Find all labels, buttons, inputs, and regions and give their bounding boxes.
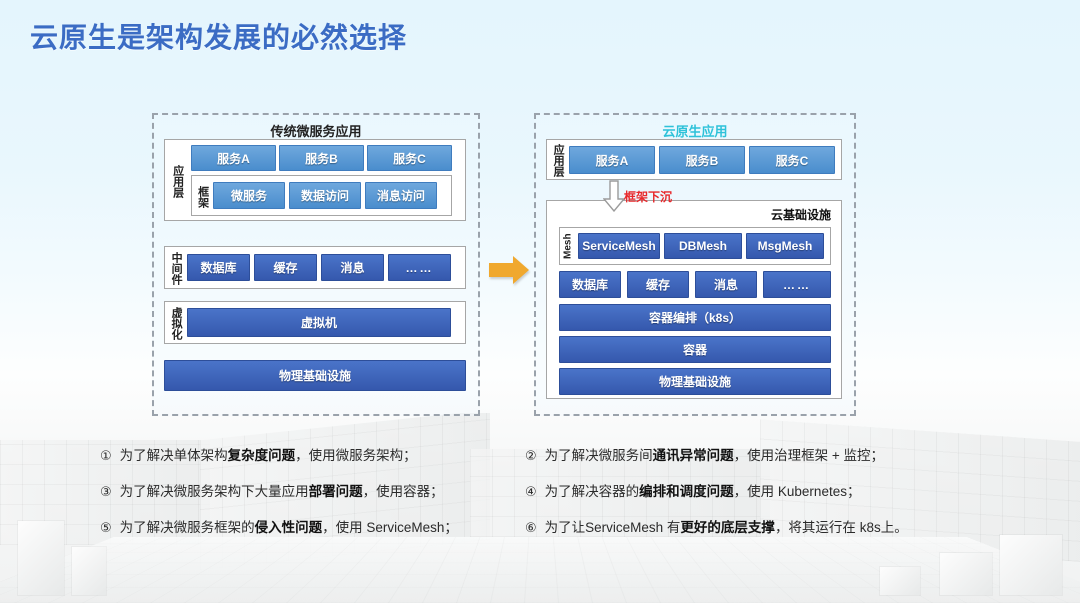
left-app-layer-label: 应用层 [169,146,185,216]
left-framework-group: 框架 微服务 数据访问 消息访问 [191,175,452,216]
note-number: ⑥ [525,520,537,536]
note-text: 为了解决单体架构复杂度问题，使用微服务架构； [120,448,417,465]
service-mesh-box[interactable]: ServiceMesh [578,233,660,259]
note-item: ⑥为了让ServiceMesh 有更好的底层支撑，将其运行在 k8s上。 [525,520,975,537]
note-text: 为了解决微服务框架的侵入性问题，使用 ServiceMesh； [120,520,458,537]
right-app-layer-group: 应用层 服务A 服务B 服务C [546,139,842,180]
left-framework-microservice[interactable]: 微服务 [213,182,285,209]
down-arrow-icon [603,180,625,212]
note-item: ③为了解决微服务架构下大量应用部署问题，使用容器； [100,484,530,501]
left-framework-data-access[interactable]: 数据访问 [289,182,361,209]
note-item: ④为了解决容器的编排和调度问题，使用 Kubernetes； [525,484,975,501]
left-service-c[interactable]: 服务C [367,145,452,171]
left-middleware-message[interactable]: 消息 [321,254,384,281]
left-app-layer-group: 应用层 服务A 服务B 服务C 框架 微服务 数据访问 消息访问 [164,139,466,221]
left-virtualization-label: 虚拟化 [168,305,183,342]
container-box[interactable]: 容器 [559,336,831,363]
container-orchestration-box[interactable]: 容器编排（k8s） [559,304,831,331]
notes-column-right: ②为了解决微服务间通讯异常问题，使用治理框架 + 监控；④为了解决容器的编排和调… [525,448,975,556]
cloud-infrastructure-group: 云基础设施 Mesh ServiceMesh DBMesh MsgMesh 数据… [546,200,842,399]
msg-mesh-box[interactable]: MsgMesh [746,233,824,259]
left-middleware-database[interactable]: 数据库 [187,254,250,281]
left-framework-message-access[interactable]: 消息访问 [365,182,437,209]
left-framework-label: 框架 [195,180,209,213]
note-item: ⑤为了解决微服务框架的侵入性问题，使用 ServiceMesh； [100,520,530,537]
note-number: ③ [100,484,112,500]
left-service-a[interactable]: 服务A [191,145,276,171]
note-number: ④ [525,484,537,500]
mesh-group: Mesh ServiceMesh DBMesh MsgMesh [559,227,831,265]
note-item: ①为了解决单体架构复杂度问题，使用微服务架构； [100,448,530,465]
cloud-native-panel: 云原生应用 应用层 服务A 服务B 服务C 云基础设施 Mesh Service… [534,113,856,416]
page-title: 云原生是架构发展的必然选择 [30,16,407,56]
framework-sink-label: 框架下沉 [624,188,672,205]
left-middleware-label: 中间件 [168,250,183,287]
note-number: ⑤ [100,520,112,536]
note-text: 为了解决容器的编排和调度问题，使用 Kubernetes； [545,484,861,501]
note-text: 为了解决微服务架构下大量应用部署问题，使用容器； [120,484,444,501]
note-number: ② [525,448,537,464]
left-virtual-machine[interactable]: 虚拟机 [187,308,451,337]
left-virtualization-group: 虚拟化 虚拟机 [164,301,466,344]
right-middleware-more[interactable]: …… [763,271,831,298]
right-service-c[interactable]: 服务C [749,146,835,174]
panel-title-traditional: 传统微服务应用 [154,121,478,140]
mesh-label: Mesh [562,230,575,262]
right-service-a[interactable]: 服务A [569,146,655,174]
traditional-microservice-panel: 传统微服务应用 应用层 服务A 服务B 服务C 框架 微服务 数据访问 消息访问… [152,113,480,416]
right-arrow-icon [489,253,531,287]
left-middleware-group: 中间件 数据库 缓存 消息 …… [164,246,466,289]
right-service-b[interactable]: 服务B [659,146,745,174]
db-mesh-box[interactable]: DBMesh [664,233,742,259]
right-app-layer-label: 应用层 [550,143,565,178]
panel-title-cloud-native: 云原生应用 [536,121,854,140]
right-middleware-cache[interactable]: 缓存 [627,271,689,298]
left-physical-infrastructure[interactable]: 物理基础设施 [164,360,466,391]
notes-column-left: ①为了解决单体架构复杂度问题，使用微服务架构；③为了解决微服务架构下大量应用部署… [100,448,530,556]
note-item: ②为了解决微服务间通讯异常问题，使用治理框架 + 监控； [525,448,975,465]
right-middleware-message[interactable]: 消息 [695,271,757,298]
right-physical-infrastructure[interactable]: 物理基础设施 [559,368,831,395]
left-middleware-cache[interactable]: 缓存 [254,254,317,281]
note-text: 为了让ServiceMesh 有更好的底层支撑，将其运行在 k8s上。 [545,520,908,537]
left-middleware-more[interactable]: …… [388,254,451,281]
right-middleware-database[interactable]: 数据库 [559,271,621,298]
left-service-b[interactable]: 服务B [279,145,364,171]
note-text: 为了解决微服务间通讯异常问题，使用治理框架 + 监控； [545,448,884,465]
cloud-infrastructure-label: 云基础设施 [771,206,831,223]
note-number: ① [100,448,112,464]
